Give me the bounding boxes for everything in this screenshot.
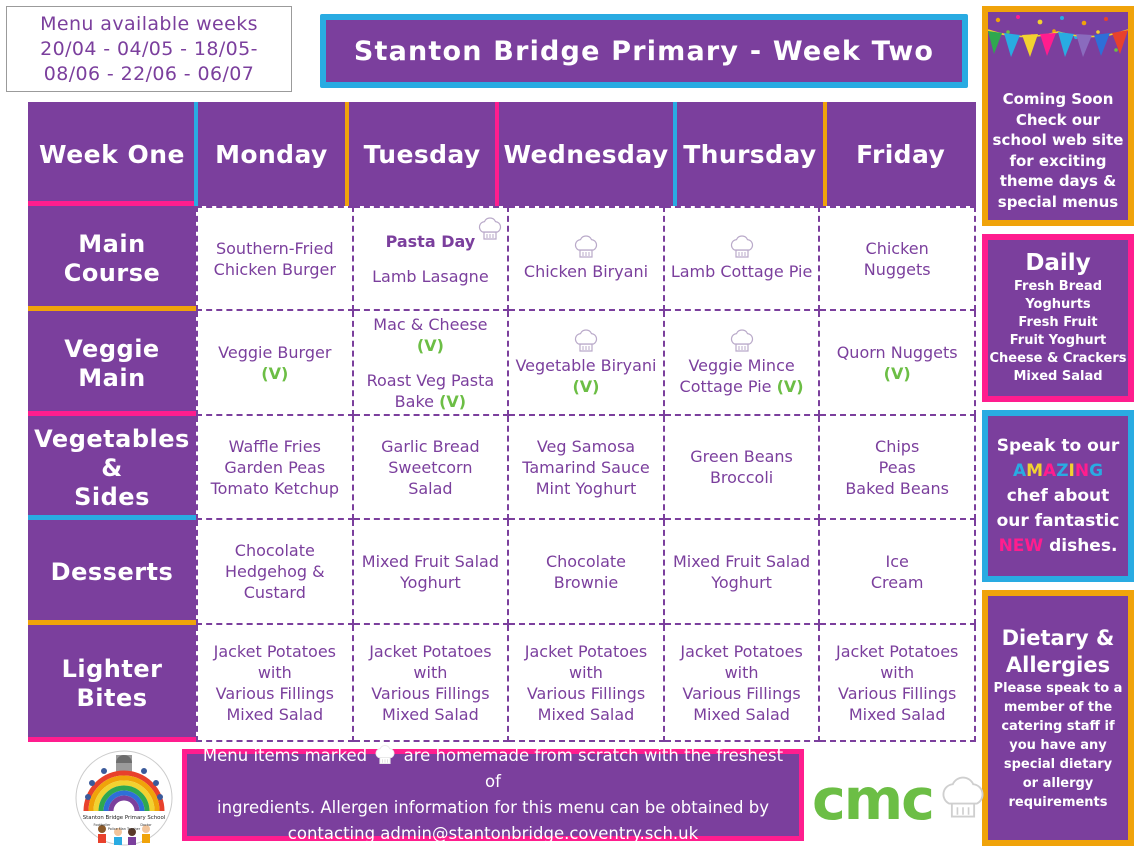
daily-item: Fresh Bread bbox=[1014, 278, 1102, 296]
corner-label-text: Week One bbox=[39, 140, 185, 169]
vegetarian-marker: (V) bbox=[777, 377, 804, 396]
menu-item-line: Cream bbox=[871, 572, 924, 593]
row-cells-vegetables-sides: Waffle FriesGarden PeasTomato KetchupGar… bbox=[196, 416, 976, 520]
menu-item-line: with bbox=[258, 662, 292, 683]
daily-panel: Daily Fresh Bread Yoghurts Fresh Fruit F… bbox=[982, 234, 1134, 402]
table-row-desserts: Desserts ChocolateHedgehog &CustardMixed… bbox=[28, 520, 976, 625]
menu-cell: Southern-FriedChicken Burger bbox=[196, 206, 354, 311]
row-cells-lighter-bites: Jacket PotatoeswithVarious FillingsMixed… bbox=[196, 625, 976, 742]
vegetarian-marker: (V) bbox=[439, 392, 466, 411]
dates-line-2: 20/04 - 04/05 - 18/05- bbox=[40, 37, 258, 62]
menu-item-line: Chicken bbox=[866, 238, 929, 259]
chef-hat-icon bbox=[727, 233, 757, 261]
menu-cell: Garlic BreadSweetcornSalad bbox=[354, 416, 510, 520]
menu-item-line: Vegetable Biryani bbox=[515, 355, 656, 376]
menu-cell: Mac & Cheese (V)Roast Veg PastaBake (V) bbox=[354, 311, 510, 416]
menu-item-line: Mixed Salad bbox=[538, 704, 635, 725]
row-cells-main-course: Southern-FriedChicken BurgerPasta DayLam… bbox=[196, 206, 976, 311]
menu-item-line: Various Fillings bbox=[838, 683, 956, 704]
menu-item-line: Mixed Salad bbox=[382, 704, 479, 725]
amazing-letter: A bbox=[1013, 461, 1026, 481]
right-sidebar: Coming Soon Check our school web site fo… bbox=[982, 6, 1134, 846]
menu-item-line: Pasta Day bbox=[386, 231, 476, 252]
dietary-line: or allergy bbox=[1023, 774, 1094, 793]
footer-note-line-2: ingredients. Allergen information for th… bbox=[197, 795, 789, 821]
menu-cell: Veggie Burger(V) bbox=[196, 311, 354, 416]
vegetarian-marker: (V) bbox=[572, 377, 599, 396]
row-cells-veggie-main: Veggie Burger(V)Mac & Cheese (V)Roast Ve… bbox=[196, 311, 976, 416]
menu-cell: Jacket PotatoeswithVarious FillingsMixed… bbox=[354, 625, 510, 742]
menu-item-line: (V) bbox=[572, 376, 599, 397]
chef-hat-icon bbox=[935, 772, 991, 828]
row-label-vegetables-sides: Vegetables&Sides bbox=[28, 416, 196, 520]
footer-note-line-3: contacting admin@stantonbridge.coventry.… bbox=[197, 821, 789, 847]
menu-item-line: with bbox=[569, 662, 603, 683]
menu-cell: Quorn Nuggets(V) bbox=[820, 311, 976, 416]
allergen-note-box: Menu items marked are homemade from scra… bbox=[182, 749, 804, 841]
dietary-line: Please speak to a bbox=[994, 679, 1123, 698]
row-label-text: Desserts bbox=[51, 558, 174, 587]
menu-cell: Pasta DayLamb Lasagne bbox=[354, 206, 510, 311]
table-row-main-course: Main Course Southern-FriedChicken Burger… bbox=[28, 206, 976, 311]
menu-item-line: Chicken Biryani bbox=[524, 261, 648, 282]
dates-line-3: 08/06 - 22/06 - 06/07 bbox=[44, 62, 255, 87]
menu-item-line: Custard bbox=[244, 582, 306, 603]
menu-item-line: Jacket Potatoes bbox=[525, 641, 647, 662]
menu-cell: Chicken Biryani bbox=[509, 206, 665, 311]
day-header-tuesday: Tuesday bbox=[347, 102, 498, 206]
row-cells-desserts: ChocolateHedgehog &CustardMixed Fruit Sa… bbox=[196, 520, 976, 625]
day-header-friday: Friday bbox=[825, 102, 976, 206]
menu-item-line: Green Beans bbox=[690, 446, 793, 467]
school-logo: Stanton Bridge Primary School Footballer… bbox=[74, 749, 174, 847]
menu-cell: Veg SamosaTamarind SauceMint Yoghurt bbox=[509, 416, 665, 520]
menu-item-line: Mixed Fruit Salad bbox=[673, 551, 810, 572]
footer-note-line-1-pre: Menu items marked bbox=[203, 746, 372, 765]
menu-item-line: Cottage Pie (V) bbox=[680, 376, 804, 397]
amazing-letter: M bbox=[1026, 461, 1043, 481]
svg-text:Doctor: Doctor bbox=[140, 823, 152, 827]
row-label-text: Veggie Main bbox=[28, 335, 196, 393]
menu-item-line: Various Fillings bbox=[682, 683, 800, 704]
menu-item-line: Jacket Potatoes bbox=[369, 641, 491, 662]
dietary-title-line-2: Allergies bbox=[1006, 652, 1110, 679]
page-title: Stanton Bridge Primary - Week Two bbox=[354, 36, 934, 67]
menu-item-line: Various Fillings bbox=[527, 683, 645, 704]
dietary-allergies-panel: Dietary & Allergies Please speak to a me… bbox=[982, 590, 1134, 846]
speak-line-1: Speak to our bbox=[997, 434, 1120, 459]
menu-item-line: Mac & Cheese (V) bbox=[360, 314, 502, 356]
coming-soon-line-6: special menus bbox=[998, 192, 1118, 213]
menu-item-line: Southern-Fried bbox=[216, 238, 334, 259]
menu-item-line: Lamb Cottage Pie bbox=[671, 261, 813, 282]
day-header-thursday: Thursday bbox=[675, 102, 826, 206]
menu-item-line: Hedgehog & bbox=[225, 561, 325, 582]
menu-item-line: Yoghurt bbox=[711, 572, 772, 593]
table-row-veggie-main: Veggie Main Veggie Burger(V)Mac & Cheese… bbox=[28, 311, 976, 416]
cmc-logo: cmc bbox=[812, 762, 972, 838]
daily-item: Fresh Fruit bbox=[1018, 314, 1097, 332]
menu-item-line: Mixed Salad bbox=[693, 704, 790, 725]
menu-item-line: (V) bbox=[884, 363, 911, 384]
menu-item-line: Mixed Salad bbox=[226, 704, 323, 725]
menu-item-line: Chips bbox=[875, 436, 919, 457]
menu-item-line: with bbox=[413, 662, 447, 683]
menu-item-line: Jacket Potatoes bbox=[214, 641, 336, 662]
menu-cell: Chocolate Brownie bbox=[509, 520, 665, 625]
menu-item-line: Various Fillings bbox=[216, 683, 334, 704]
menu-item-line: Sweetcorn bbox=[388, 457, 472, 478]
amazing-letter: N bbox=[1075, 461, 1089, 481]
menu-available-weeks-box: Menu available weeks 20/04 - 04/05 - 18/… bbox=[6, 6, 292, 92]
coming-soon-line-4: for exciting bbox=[1009, 151, 1106, 172]
menu-item-line: Jacket Potatoes bbox=[836, 641, 958, 662]
menu-cell: Veggie MinceCottage Pie (V) bbox=[665, 311, 821, 416]
dietary-line: catering staff if bbox=[1001, 717, 1114, 736]
row-label-text: LighterBites bbox=[62, 655, 163, 713]
menu-item-line: Bake (V) bbox=[395, 391, 466, 412]
menu-item-line: Veggie Burger bbox=[218, 342, 331, 363]
dietary-title-line-1: Dietary & bbox=[1002, 625, 1115, 652]
menu-item-line: Mint Yoghurt bbox=[536, 478, 636, 499]
coming-soon-line-2: Check our bbox=[1016, 110, 1100, 131]
menu-item-line: Peas bbox=[879, 457, 916, 478]
dietary-line: special dietary bbox=[1004, 755, 1112, 774]
menu-cell: Jacket PotatoeswithVarious FillingsMixed… bbox=[665, 625, 821, 742]
table-header-row: Week One MondayTuesdayWednesdayThursdayF… bbox=[28, 102, 976, 206]
row-label-desserts: Desserts bbox=[28, 520, 196, 625]
dates-line-1: Menu available weeks bbox=[40, 12, 258, 37]
table-row-lighter-bites: LighterBites Jacket PotatoeswithVarious … bbox=[28, 625, 976, 742]
weekly-menu-table: Week One MondayTuesdayWednesdayThursdayF… bbox=[28, 102, 976, 742]
chef-hat-icon bbox=[727, 327, 757, 355]
row-label-veggie-main: Veggie Main bbox=[28, 311, 196, 416]
speak-line-5-rest: dishes. bbox=[1043, 536, 1117, 556]
menu-cell: Jacket PotatoeswithVarious FillingsMixed… bbox=[196, 625, 354, 742]
table-corner-label: Week One bbox=[28, 102, 196, 206]
menu-item-line: Chicken Burger bbox=[214, 259, 336, 280]
menu-item-line: Mixed Fruit Salad bbox=[362, 551, 499, 572]
day-header-label: Wednesday bbox=[503, 144, 668, 165]
coming-soon-line-5: theme days & bbox=[1000, 171, 1116, 192]
menu-cell: ChipsPeasBaked Beans bbox=[820, 416, 976, 520]
menu-cell: Jacket PotatoeswithVarious FillingsMixed… bbox=[820, 625, 976, 742]
menu-cell: Vegetable Biryani(V) bbox=[509, 311, 665, 416]
speak-line-5: NEW dishes. bbox=[999, 534, 1118, 559]
coming-soon-line-3: school web site bbox=[993, 130, 1124, 151]
menu-item-line: Veggie Mince bbox=[688, 355, 794, 376]
menu-cell: IceCream bbox=[820, 520, 976, 625]
menu-item-line: Chocolate bbox=[235, 540, 315, 561]
speak-line-3: chef about bbox=[1007, 484, 1110, 509]
svg-text:Police Man Teacher: Police Man Teacher bbox=[108, 827, 141, 831]
menu-item-line: Jacket Potatoes bbox=[680, 641, 802, 662]
menu-item-line: Nuggets bbox=[864, 259, 931, 280]
chef-hat-icon bbox=[571, 233, 601, 261]
coming-soon-panel: Coming Soon Check our school web site fo… bbox=[982, 6, 1134, 226]
vegetarian-marker: (V) bbox=[417, 336, 444, 355]
daily-item: Cheese & Crackers bbox=[989, 350, 1126, 368]
row-label-text: Vegetables&Sides bbox=[34, 425, 190, 512]
menu-cell: Mixed Fruit SaladYoghurt bbox=[665, 520, 821, 625]
menu-cell: Green BeansBroccoli bbox=[665, 416, 821, 520]
dietary-line: requirements bbox=[1008, 793, 1107, 812]
coming-soon-line-1: Coming Soon bbox=[1003, 89, 1114, 110]
menu-item-line: Roast Veg Pasta bbox=[367, 370, 495, 391]
table-row-vegetables-sides: Vegetables&Sides Waffle FriesGarden Peas… bbox=[28, 416, 976, 520]
cmc-logo-text: cmc bbox=[812, 772, 933, 829]
menu-item-line: Garden Peas bbox=[224, 457, 325, 478]
menu-item-line: Waffle Fries bbox=[229, 436, 321, 457]
day-header-label: Friday bbox=[856, 144, 945, 165]
day-header-monday: Monday bbox=[196, 102, 347, 206]
footer-note-line-1-post: are homemade from scratch with the fresh… bbox=[398, 746, 783, 791]
menu-cell: Jacket PotatoeswithVarious FillingsMixed… bbox=[509, 625, 665, 742]
vegetarian-marker: (V) bbox=[884, 364, 911, 383]
menu-title-banner: Stanton Bridge Primary - Week Two bbox=[320, 14, 968, 88]
daily-item: Yoghurts bbox=[1025, 296, 1090, 314]
menu-item-line: Chocolate Brownie bbox=[515, 551, 657, 593]
amazing-letter: G bbox=[1089, 461, 1103, 481]
day-header-label: Tuesday bbox=[364, 144, 481, 165]
new-word: NEW bbox=[999, 536, 1044, 556]
menu-item-line: Baked Beans bbox=[845, 478, 949, 499]
amazing-word: AMAZING bbox=[1013, 459, 1103, 484]
menu-cell: ChickenNuggets bbox=[820, 206, 976, 311]
vegetarian-marker: (V) bbox=[261, 364, 288, 383]
daily-item: Fruit Yoghurt bbox=[1010, 332, 1107, 350]
speak-to-chef-panel: Speak to our AMAZING chef about our fant… bbox=[982, 410, 1134, 582]
menu-cell: ChocolateHedgehog &Custard bbox=[196, 520, 354, 625]
bunting-decoration bbox=[988, 12, 1128, 74]
menu-item-line: Various Fillings bbox=[371, 683, 489, 704]
daily-item: Mixed Salad bbox=[1013, 368, 1102, 386]
menu-item-line: Lamb Lasagne bbox=[372, 266, 489, 287]
amazing-letter: A bbox=[1043, 461, 1056, 481]
amazing-letter: Z bbox=[1056, 461, 1068, 481]
menu-item-line: Tamarind Sauce bbox=[522, 457, 649, 478]
menu-item-line: (V) bbox=[261, 363, 288, 384]
menu-item-line: Tomato Ketchup bbox=[211, 478, 339, 499]
day-header-wednesday: Wednesday bbox=[497, 102, 674, 206]
row-label-main-course: Main Course bbox=[28, 206, 196, 311]
speak-line-4: our fantastic bbox=[997, 509, 1120, 534]
menu-item-line: Quorn Nuggets bbox=[837, 342, 958, 363]
menu-item-line: Mixed Salad bbox=[849, 704, 946, 725]
menu-item-line: Ice bbox=[885, 551, 908, 572]
row-label-text: Main Course bbox=[28, 230, 196, 288]
daily-panel-title: Daily bbox=[1025, 250, 1090, 277]
dietary-line: you have any bbox=[1009, 736, 1107, 755]
menu-item-line: Veg Samosa bbox=[537, 436, 635, 457]
chef-hat-icon bbox=[475, 215, 505, 243]
menu-item-line: with bbox=[880, 662, 914, 683]
menu-item-line: Salad bbox=[408, 478, 452, 499]
day-header-label: Thursday bbox=[683, 144, 816, 165]
day-header-label: Monday bbox=[215, 144, 328, 165]
menu-item-line: Garlic Bread bbox=[381, 436, 480, 457]
chef-hat-icon bbox=[372, 743, 398, 767]
menu-cell: Lamb Cottage Pie bbox=[665, 206, 821, 311]
menu-item-line: with bbox=[725, 662, 759, 683]
menu-cell: Waffle FriesGarden PeasTomato Ketchup bbox=[196, 416, 354, 520]
row-label-lighter-bites: LighterBites bbox=[28, 625, 196, 742]
chef-hat-icon bbox=[571, 327, 601, 355]
menu-cell: Mixed Fruit SaladYoghurt bbox=[354, 520, 510, 625]
menu-item-line: Broccoli bbox=[710, 467, 773, 488]
menu-item-line: Yoghurt bbox=[400, 572, 461, 593]
dietary-line: member of the bbox=[1004, 698, 1112, 717]
svg-text:Stanton Bridge Primary School: Stanton Bridge Primary School bbox=[83, 815, 166, 821]
